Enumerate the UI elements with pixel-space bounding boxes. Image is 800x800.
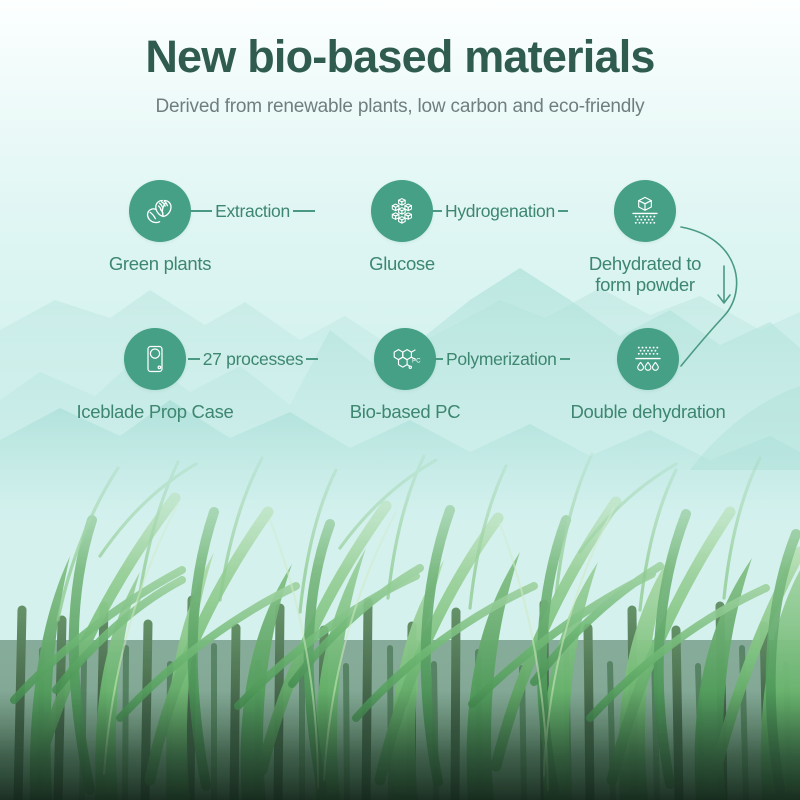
- flow-node-green-plants[interactable]: Green plants: [70, 180, 250, 274]
- flow-connector-extraction: Extraction: [190, 201, 315, 221]
- connector-label: Polymerization: [443, 349, 560, 370]
- corn-plant-icon: [142, 193, 178, 229]
- page-title: New bio-based materials: [0, 0, 800, 82]
- svg-text:PC: PC: [412, 357, 421, 364]
- connector-label: Hydrogenation: [442, 201, 558, 222]
- flow-node-bio-based-pc[interactable]: PC Bio-based PC: [315, 328, 495, 422]
- connector-label: Extraction: [212, 201, 293, 222]
- flow-connector-polymerization: Polymerization: [433, 349, 561, 369]
- flow-node-label: Glucose: [312, 253, 492, 274]
- process-flow-diagram: Green plants Extraction: [0, 180, 800, 450]
- node-icon-circle: PC: [374, 328, 436, 390]
- flow-connector-hydrogenation: Hydrogenation: [432, 201, 557, 221]
- connector-line-left: [188, 358, 200, 360]
- poster-root: New bio-based materials Derived from ren…: [0, 0, 800, 800]
- node-icon-circle: [617, 328, 679, 390]
- connector-line-left: [433, 358, 443, 360]
- node-icon-circle: [614, 180, 676, 242]
- sugar-cubes-icon: [384, 193, 420, 229]
- flow-node-label: Bio-based PC: [315, 401, 495, 422]
- flow-node-label: Double dehydration: [558, 401, 738, 422]
- flow-connector-27-processes: 27 processes: [188, 349, 318, 369]
- node-icon-circle: [129, 180, 191, 242]
- cube-powder-icon: [626, 192, 664, 230]
- flow-node-dehydrated[interactable]: Dehydrated to form powder: [555, 180, 735, 296]
- phone-case-icon: [137, 341, 173, 377]
- page-subtitle: Derived from renewable plants, low carbo…: [0, 82, 800, 118]
- flow-node-glucose[interactable]: Glucose: [312, 180, 492, 274]
- flow-node-label: Iceblade Prop Case: [65, 401, 245, 422]
- connector-line-left: [190, 210, 212, 212]
- molecule-pc-icon: PC: [386, 340, 424, 378]
- header: New bio-based materials Derived from ren…: [0, 0, 800, 118]
- flow-node-label: Dehydrated to form powder: [555, 253, 735, 296]
- flow-node-label: Green plants: [70, 253, 250, 274]
- flow-node-double-dehydration[interactable]: Double dehydration: [558, 328, 738, 422]
- powder-droplets-icon: [629, 340, 667, 378]
- node-icon-circle: [124, 328, 186, 390]
- connector-label: 27 processes: [200, 349, 307, 370]
- flow-node-iceblade-prop-case[interactable]: Iceblade Prop Case: [65, 328, 245, 422]
- node-icon-circle: [371, 180, 433, 242]
- connector-line-left: [432, 210, 442, 212]
